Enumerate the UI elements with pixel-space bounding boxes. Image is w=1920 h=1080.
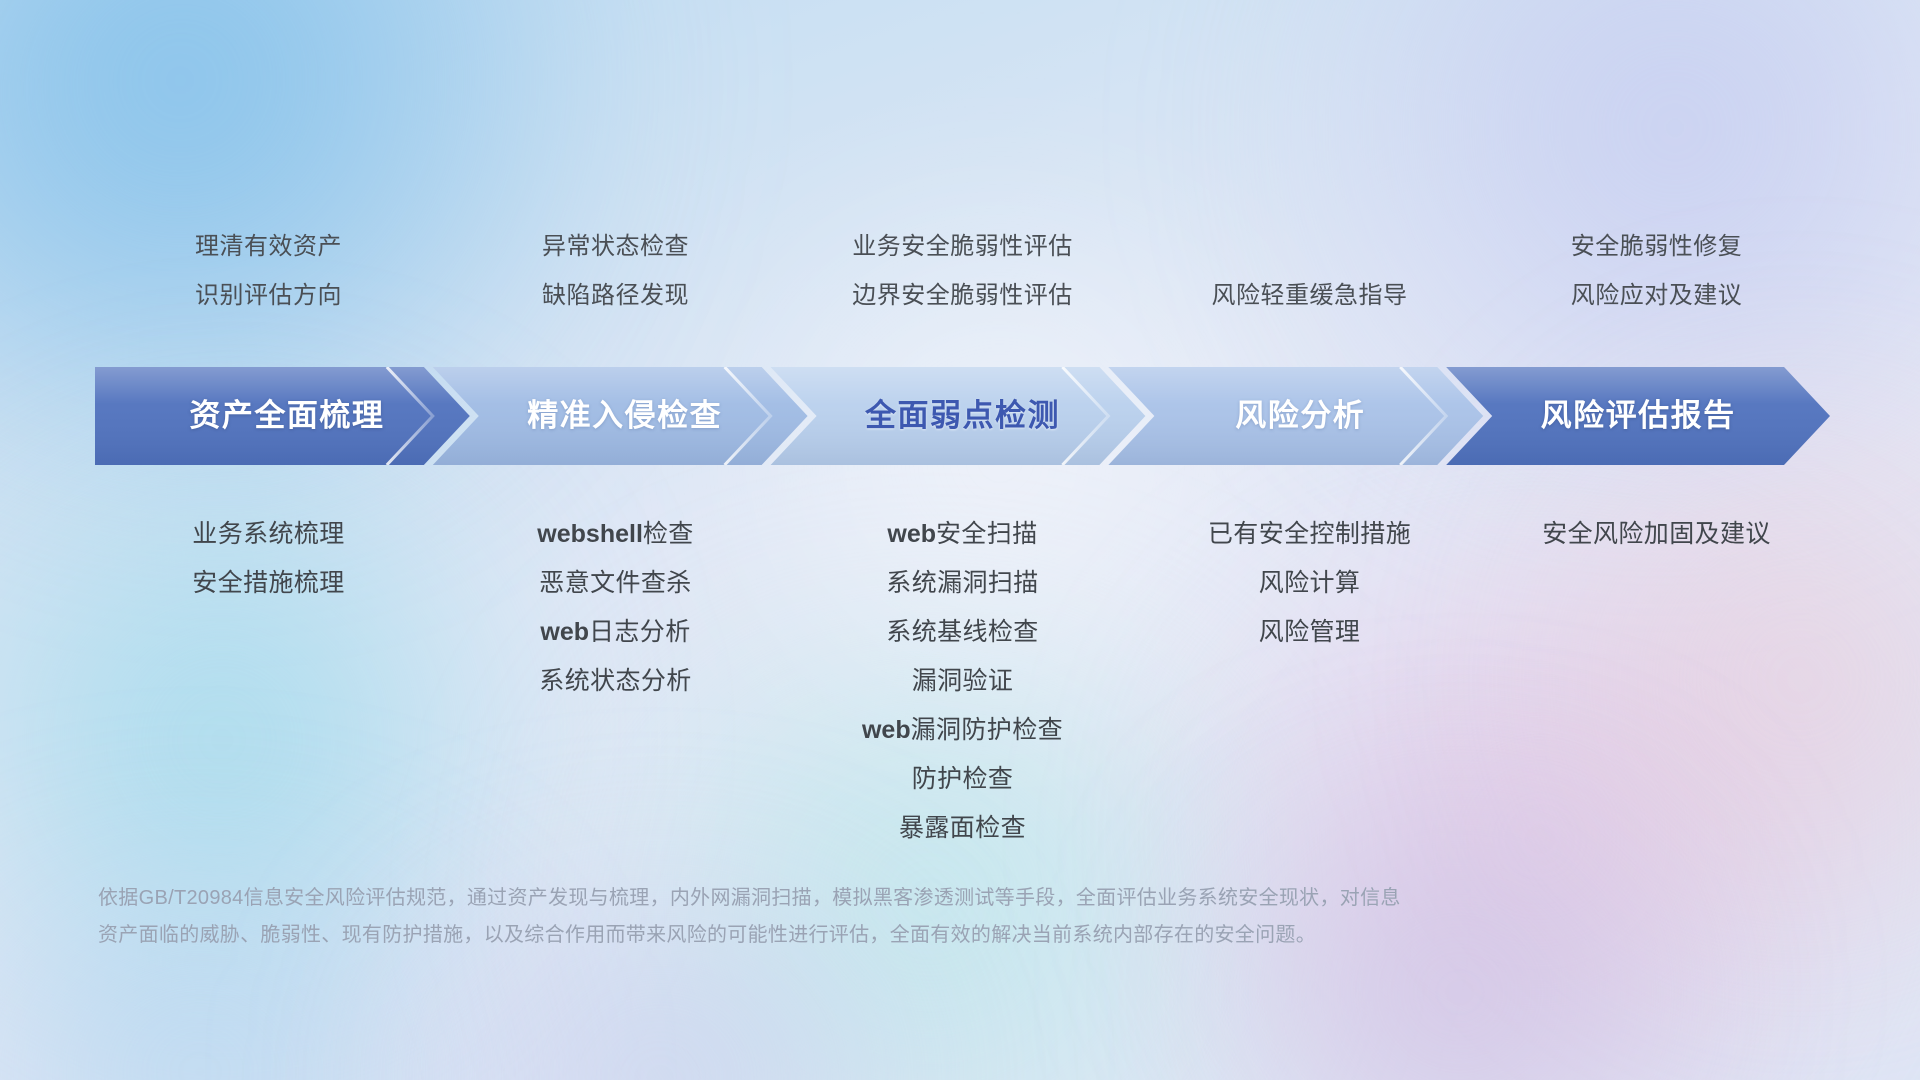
stage-arrow-band: 资产全面梳理精准入侵检查全面弱点检测风险分析风险评估报告	[95, 367, 1830, 465]
stage-chevron-asset-inventory[interactable]	[95, 367, 470, 465]
detail-latin-token: webshell	[537, 520, 643, 548]
bottom-detail-row: 业务系统梳理安全措施梳理webshell检查恶意文件查杀web日志分析系统状态分…	[95, 510, 1830, 853]
detail-cjk-token: 漏洞防护检查	[911, 716, 1063, 744]
bottom-detail-item: 系统基线检查	[789, 608, 1136, 657]
top-annotation-item: 识别评估方向	[95, 271, 442, 320]
bottom-detail-item: web日志分析	[442, 608, 789, 657]
detail-cjk-token: 检查	[643, 520, 694, 548]
bottom-detail-column: webshell检查恶意文件查杀web日志分析系统状态分析	[442, 510, 789, 706]
footer-line-2: 资产面临的威胁、脆弱性、现有防护措施，以及综合作用而带来风险的可能性进行评估，全…	[98, 917, 1658, 954]
detail-cjk-token: 已有安全控制措施	[1208, 520, 1411, 548]
top-annotations-row: 理清有效资产识别评估方向异常状态检查缺陷路径发现业务安全脆弱性评估边界安全脆弱性…	[95, 222, 1830, 320]
bottom-detail-item: 恶意文件查杀	[442, 559, 789, 608]
detail-latin-token: web	[862, 716, 911, 744]
bottom-detail-item: 已有安全控制措施	[1136, 510, 1483, 559]
detail-cjk-token: 漏洞验证	[912, 667, 1014, 695]
detail-cjk-token: 系统基线检查	[886, 618, 1038, 646]
detail-cjk-token: 安全扫描	[936, 520, 1038, 548]
detail-cjk-token: 防护检查	[912, 765, 1014, 793]
bottom-detail-column: 业务系统梳理安全措施梳理	[95, 510, 442, 608]
bottom-detail-item: web漏洞防护检查	[789, 706, 1136, 755]
top-annotation-column: 风险轻重缓急指导	[1136, 271, 1483, 320]
top-annotation-column: 安全脆弱性修复风险应对及建议	[1483, 222, 1830, 320]
bottom-detail-item: 安全措施梳理	[95, 559, 442, 608]
bottom-detail-item: 安全风险加固及建议	[1483, 510, 1830, 559]
bottom-detail-item: web安全扫描	[789, 510, 1136, 559]
bottom-detail-column: 安全风险加固及建议	[1483, 510, 1830, 559]
top-annotation-item: 边界安全脆弱性评估	[789, 271, 1136, 320]
stage-chevron-risk-analysis[interactable]	[1108, 367, 1483, 465]
detail-cjk-token: 安全风险加固及建议	[1542, 520, 1771, 548]
top-annotation-column: 异常状态检查缺陷路径发现	[442, 222, 789, 320]
stage-chevron-weakness-detection[interactable]	[771, 367, 1146, 465]
detail-latin-token: web	[887, 520, 936, 548]
bottom-detail-column: 已有安全控制措施风险计算风险管理	[1136, 510, 1483, 657]
detail-cjk-token: 风险计算	[1259, 569, 1361, 597]
top-annotation-column: 业务安全脆弱性评估边界安全脆弱性评估	[789, 222, 1136, 320]
bottom-detail-item: 暴露面检查	[789, 804, 1136, 853]
bottom-detail-item: 系统状态分析	[442, 657, 789, 706]
detail-latin-token: web	[540, 618, 589, 646]
top-annotation-column: 理清有效资产识别评估方向	[95, 222, 442, 320]
detail-cjk-token: 暴露面检查	[899, 814, 1026, 842]
top-annotation-item: 异常状态检查	[442, 222, 789, 271]
process-diagram: 理清有效资产识别评估方向异常状态检查缺陷路径发现业务安全脆弱性评估边界安全脆弱性…	[0, 0, 1920, 1080]
bottom-detail-column: web安全扫描系统漏洞扫描系统基线检查漏洞验证web漏洞防护检查防护检查暴露面检…	[789, 510, 1136, 853]
top-annotation-item: 风险轻重缓急指导	[1136, 271, 1483, 320]
top-annotation-item: 业务安全脆弱性评估	[789, 222, 1136, 271]
stage-chevron-intrusion-check[interactable]	[433, 367, 808, 465]
detail-cjk-token: 系统状态分析	[539, 667, 691, 695]
footer-description: 依据GB/T20984信息安全风险评估规范，通过资产发现与梳理，内外网漏洞扫描，…	[98, 880, 1658, 954]
detail-cjk-token: 恶意文件查杀	[539, 569, 691, 597]
bottom-detail-item: 业务系统梳理	[95, 510, 442, 559]
bottom-detail-item: 漏洞验证	[789, 657, 1136, 706]
top-annotation-item: 缺陷路径发现	[442, 271, 789, 320]
stage-arrow-shapes	[95, 367, 1830, 465]
bottom-detail-item: 风险计算	[1136, 559, 1483, 608]
top-annotation-item: 安全脆弱性修复	[1483, 222, 1830, 271]
stage-chevron-risk-report[interactable]	[1446, 367, 1830, 465]
top-annotation-item: 理清有效资产	[95, 222, 442, 271]
detail-cjk-token: 业务系统梳理	[192, 520, 344, 548]
top-annotation-item: 风险应对及建议	[1483, 271, 1830, 320]
detail-cjk-token: 风险管理	[1259, 618, 1361, 646]
detail-cjk-token: 安全措施梳理	[192, 569, 344, 597]
detail-cjk-token: 日志分析	[589, 618, 691, 646]
bottom-detail-item: 防护检查	[789, 755, 1136, 804]
detail-cjk-token: 系统漏洞扫描	[886, 569, 1038, 597]
bottom-detail-item: webshell检查	[442, 510, 789, 559]
bottom-detail-item: 系统漏洞扫描	[789, 559, 1136, 608]
footer-line-1: 依据GB/T20984信息安全风险评估规范，通过资产发现与梳理，内外网漏洞扫描，…	[98, 880, 1658, 917]
bottom-detail-item: 风险管理	[1136, 608, 1483, 657]
